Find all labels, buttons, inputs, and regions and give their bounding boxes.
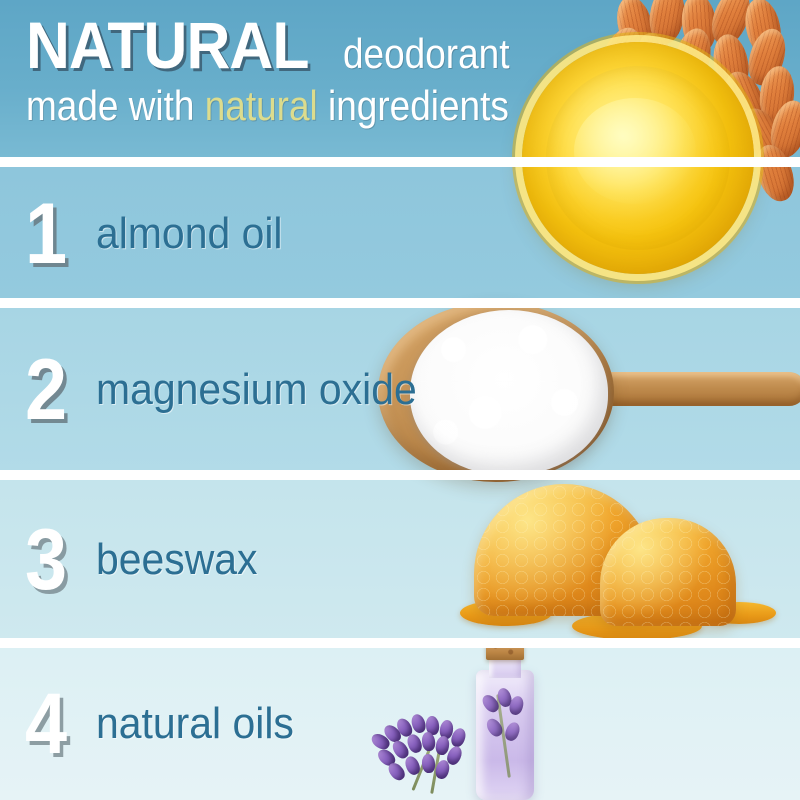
- band-divider: [0, 298, 800, 308]
- tagline-suffix: ingredients: [318, 82, 509, 129]
- band-divider: [0, 470, 800, 480]
- ingredient-number: 4: [14, 681, 77, 767]
- ingredient-row-3: 3 beeswax: [0, 480, 800, 640]
- ingredient-label: beeswax: [96, 535, 258, 585]
- ingredient-row-1: 1 almond oil: [0, 167, 800, 301]
- ingredient-label: magnesium oxide: [96, 365, 417, 415]
- tagline-highlight: natural: [205, 82, 318, 129]
- ingredient-number: 2: [14, 347, 77, 433]
- ingredient-label: almond oil: [96, 209, 283, 259]
- ingredient-label: natural oils: [96, 699, 294, 749]
- tagline: made with natural ingredients: [26, 82, 509, 130]
- title-suffix: deodorant: [343, 30, 509, 78]
- band-divider: [0, 638, 800, 648]
- ingredient-row-2: 2 magnesium oxide: [0, 308, 800, 472]
- title-line: NATURAL deodorant: [26, 14, 575, 78]
- tagline-prefix: made with: [26, 82, 205, 129]
- band-divider: [0, 157, 800, 167]
- natural-deodorant-infographic: NATURAL deodorant made with natural ingr…: [0, 0, 800, 800]
- ingredient-number: 1: [14, 191, 77, 277]
- ingredient-row-4: 4 natural oils: [0, 648, 800, 800]
- page-title: NATURAL: [26, 14, 308, 77]
- ingredient-number: 3: [14, 517, 77, 603]
- header-text-block: NATURAL deodorant made with natural ingr…: [26, 14, 575, 130]
